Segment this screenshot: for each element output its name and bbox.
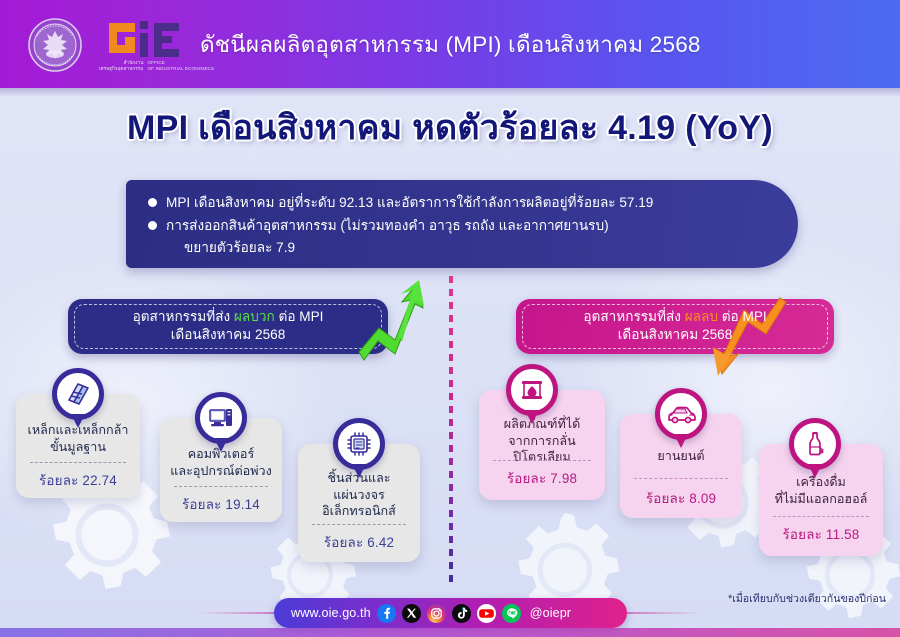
summary-accent-bar xyxy=(126,180,133,268)
footer-website-link[interactable]: www.oie.go.th xyxy=(291,606,371,620)
positive-header-line2: เดือนสิงหาคม 2568 xyxy=(68,326,388,344)
card-label-line: ยานยนต์ xyxy=(626,448,736,465)
tiktok-icon[interactable] xyxy=(452,604,471,623)
card-separator xyxy=(30,462,126,463)
card-label-line: อิเล็กทรอนิกส์ xyxy=(304,503,414,520)
industry-card-value: ร้อยละ 7.98 xyxy=(483,468,601,489)
car-icon xyxy=(666,400,696,428)
footer-social-handle: @oiepr xyxy=(530,606,571,620)
youtube-icon[interactable] xyxy=(477,604,496,623)
positive-header-suffix: ต่อ MPI xyxy=(275,309,324,324)
positive-section-header: อุตสาหกรรมที่ส่ง ผลบวก ต่อ MPI เดือนสิงห… xyxy=(68,299,388,354)
footer-bar: www.oie.go.th xyxy=(274,598,627,628)
thai-government-seal-icon xyxy=(27,14,83,76)
negative-header-prefix: อุตสาหกรรมที่ส่ง xyxy=(583,309,684,324)
card-separator xyxy=(174,486,268,487)
steel-beams-icon xyxy=(64,380,92,408)
facebook-icon[interactable] xyxy=(377,604,396,623)
card-separator xyxy=(773,516,869,517)
industry-badge-steel xyxy=(52,368,104,420)
card-label-line: และอุปกรณ์ต่อพ่วง xyxy=(166,463,276,480)
negative-header-line1: อุตสาหกรรมที่ส่ง ผลลบ ต่อ MPI xyxy=(516,308,834,326)
section-divider xyxy=(449,276,453,588)
summary-bullet-1: MPI เดือนสิงหาคม อยู่ที่ระดับ 92.13 และอ… xyxy=(148,193,772,213)
negative-header-line2: เดือนสิงหาคม 2568 xyxy=(516,326,834,344)
computer-icon xyxy=(207,404,235,432)
oie-sub-th-line2: เศรษฐกิจอุตสาหกรรม xyxy=(99,66,144,71)
industry-card-value: ร้อยละ 8.09 xyxy=(624,488,738,509)
positive-header-highlight: ผลบวก xyxy=(234,309,275,324)
industry-card-label: เครื่องดื่ม ที่ไม่มีแอลกอฮอล์ xyxy=(765,474,877,507)
card-label-line: ที่ไม่มีแอลกอฮอล์ xyxy=(765,491,877,508)
industry-card-value: ร้อยละ 11.58 xyxy=(763,524,879,545)
footnote: *เมื่อเทียบกับช่วงเดียวกันของปีก่อน xyxy=(728,590,886,607)
card-separator xyxy=(634,478,728,479)
industry-card-label: ผลิตภัณฑ์ที่ได้ จากการกลั่นปิโตรเลียม xyxy=(485,416,599,466)
card-label-line: แผ่นวงจร xyxy=(304,487,414,504)
microchip-icon xyxy=(345,430,373,458)
header-bar: สำนักงาน เศรษฐกิจอุตสาหกรรม OFFICE OF IN… xyxy=(0,0,900,88)
industry-card-value: ร้อยละ 22.74 xyxy=(20,470,136,491)
negative-header-highlight: ผลลบ xyxy=(685,309,718,324)
header-title: ดัชนีผลผลิตอุตสาหกรรม (MPI) เดือนสิงหาคม… xyxy=(200,0,701,88)
summary-bullet-2-continuation: ขยายตัวร้อยละ 7.9 xyxy=(148,238,772,258)
industry-badge-microchip xyxy=(333,418,385,470)
card-label-line: ผลิตภัณฑ์ที่ได้ xyxy=(485,416,599,433)
oie-sub-en-line1: OFFICE xyxy=(148,60,165,65)
instagram-icon[interactable] xyxy=(427,604,446,623)
industry-badge-petroleum xyxy=(506,364,558,416)
oie-logo-subtitle: สำนักงาน เศรษฐกิจอุตสาหกรรม OFFICE OF IN… xyxy=(99,60,199,72)
header-shadow xyxy=(0,88,900,97)
industry-badge-beverage xyxy=(789,418,841,470)
industry-card-value: ร้อยละ 6.42 xyxy=(302,532,416,553)
industry-card-value: ร้อยละ 19.14 xyxy=(164,494,278,515)
card-separator xyxy=(312,524,406,525)
footer-rule-left xyxy=(200,612,276,614)
oil-barrel-icon xyxy=(518,376,546,404)
bullet-dot-icon xyxy=(148,198,157,207)
card-separator xyxy=(493,460,591,461)
summary-bullet-2-text: การส่งออกสินค้าอุตสาหกรรม (ไม่รวมทองคำ อ… xyxy=(166,216,609,236)
line-icon[interactable] xyxy=(502,604,521,623)
footer-rule-right xyxy=(625,612,701,614)
x-twitter-icon[interactable] xyxy=(402,604,421,623)
industry-badge-computer xyxy=(195,392,247,444)
bottle-icon xyxy=(801,430,829,458)
oie-sub-th-line1: สำนักงาน xyxy=(124,60,144,65)
summary-bullet-2: การส่งออกสินค้าอุตสาหกรรม (ไม่รวมทองคำ อ… xyxy=(148,216,772,236)
summary-panel: MPI เดือนสิงหาคม อยู่ที่ระดับ 92.13 และอ… xyxy=(126,180,798,268)
page-title: MPI เดือนสิงหาคม หดตัวร้อยละ 4.19 (YoY) xyxy=(0,100,900,154)
bottom-edge-bar xyxy=(0,628,900,637)
industry-card-label: ยานยนต์ xyxy=(626,448,736,465)
mpi-infographic: สำนักงาน เศรษฐกิจอุตสาหกรรม OFFICE OF IN… xyxy=(0,0,900,637)
positive-header-prefix: อุตสาหกรรมที่ส่ง xyxy=(133,309,234,324)
card-label-line: ขั้นมูลฐาน xyxy=(22,439,134,456)
bullet-dot-icon xyxy=(148,221,157,230)
positive-header-line1: อุตสาหกรรมที่ส่ง ผลบวก ต่อ MPI xyxy=(68,308,388,326)
industry-badge-automotive xyxy=(655,388,707,440)
negative-header-suffix: ต่อ MPI xyxy=(718,309,767,324)
summary-bullet-1-text: MPI เดือนสิงหาคม อยู่ที่ระดับ 92.13 และอ… xyxy=(166,193,653,213)
